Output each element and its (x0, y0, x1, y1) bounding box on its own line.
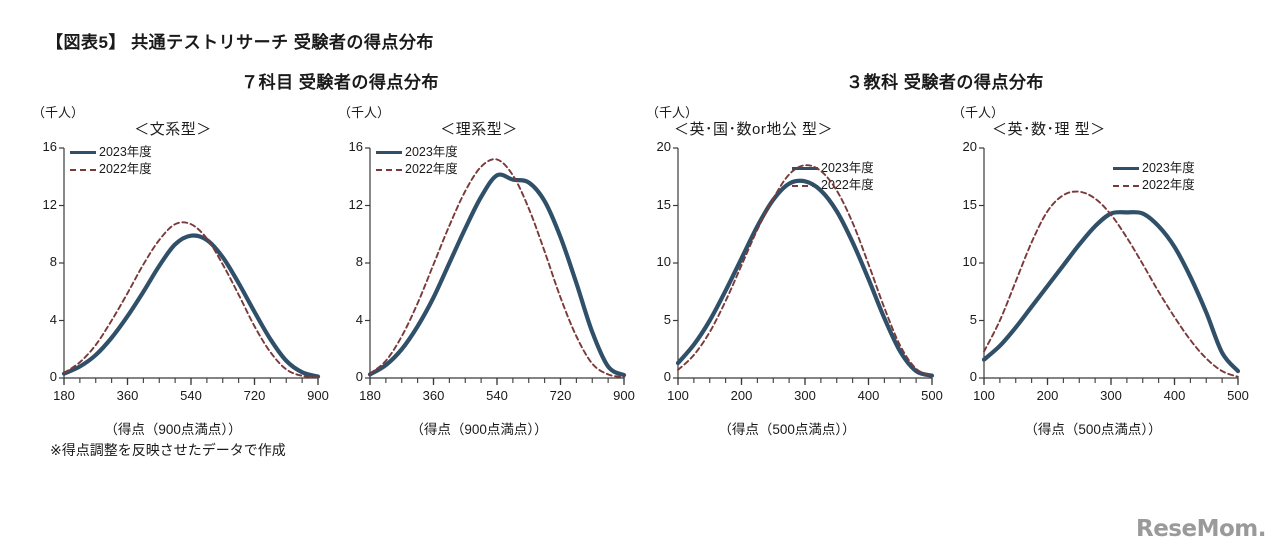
x-tick-label: 500 (1216, 388, 1260, 403)
plot-area: 05101520100200300400500 (938, 140, 1248, 400)
x-tick-label: 360 (106, 388, 150, 403)
section-title-7subjects: ７科目 受験者の得点分布 (130, 68, 550, 93)
series-line-2022年度 (370, 159, 624, 377)
chart-panel-rikei: （千人） ＜理系型＞ 2023年度 2022年度 048121618036054… (324, 100, 634, 440)
y-tick-label: 10 (951, 254, 977, 269)
chart-title: ＜理系型＞ (324, 118, 634, 139)
series-line-2023年度 (984, 212, 1238, 371)
y-tick-label: 4 (31, 312, 57, 327)
y-tick-label: 12 (337, 197, 363, 212)
x-tick-label: 200 (1026, 388, 1070, 403)
x-axis-caption: （得点（900点満点）） (324, 418, 634, 438)
x-tick-label: 200 (720, 388, 764, 403)
y-tick-label: 0 (645, 369, 671, 384)
y-tick-label: 0 (337, 369, 363, 384)
series-line-2023年度 (64, 236, 318, 377)
y-tick-label: 5 (951, 312, 977, 327)
chart-svg (18, 140, 328, 400)
chart-title: ＜英･国･数or地公 型＞ (674, 118, 833, 139)
x-tick-label: 720 (233, 388, 277, 403)
section-title-3subjects: ３教科 受験者の得点分布 (735, 68, 1155, 93)
y-tick-label: 16 (337, 139, 363, 154)
x-tick-label: 540 (169, 388, 213, 403)
plot-area: 05101520100200300400500 (632, 140, 942, 400)
y-tick-label: 8 (31, 254, 57, 269)
series-line-2023年度 (678, 181, 932, 376)
x-axis-caption: （得点（500点満点）） (938, 418, 1248, 438)
x-axis-caption: （得点（900点満点）） (18, 418, 328, 438)
y-tick-label: 16 (31, 139, 57, 154)
y-tick-label: 10 (645, 254, 671, 269)
x-tick-label: 300 (783, 388, 827, 403)
chart-svg (938, 140, 1248, 400)
chart-title: ＜英･数･理 型＞ (992, 118, 1106, 139)
series-line-2023年度 (370, 175, 624, 376)
x-tick-label: 400 (847, 388, 891, 403)
y-tick-label: 0 (31, 369, 57, 384)
x-tick-label: 360 (412, 388, 456, 403)
y-tick-label: 5 (645, 312, 671, 327)
x-axis-caption: （得点（500点満点）） (632, 418, 942, 438)
series-line-2022年度 (984, 192, 1238, 377)
footnote: ※得点調整を反映させたデータで作成 (50, 440, 286, 460)
plot-area: 0481216180360540720900 (324, 140, 634, 400)
y-tick-label: 0 (951, 369, 977, 384)
chart-panel-bunkei: （千人） ＜文系型＞ 2023年度 2022年度 048121618036054… (18, 100, 328, 440)
x-tick-label: 100 (656, 388, 700, 403)
y-tick-label: 12 (31, 197, 57, 212)
y-tick-label: 8 (337, 254, 363, 269)
x-tick-label: 300 (1089, 388, 1133, 403)
x-tick-label: 720 (539, 388, 583, 403)
x-tick-label: 100 (962, 388, 1006, 403)
chart-title: ＜文系型＞ (18, 118, 328, 139)
y-tick-label: 20 (951, 139, 977, 154)
x-tick-label: 180 (42, 388, 86, 403)
chart-panel-eikokusu: （千人） ＜英･国･数or地公 型＞ 2023年度 2022年度 0510152… (632, 100, 942, 440)
page-title: 【図表5】 共通テストリサーチ 受験者の得点分布 (46, 28, 434, 53)
plot-area: 0481216180360540720900 (18, 140, 328, 400)
chart-svg (324, 140, 634, 400)
chart-panel-eisuuri: （千人） ＜英･数･理 型＞ 2023年度 2022年度 05101520100… (938, 100, 1248, 440)
y-tick-label: 4 (337, 312, 363, 327)
x-tick-label: 540 (475, 388, 519, 403)
x-tick-label: 400 (1153, 388, 1197, 403)
y-tick-label: 20 (645, 139, 671, 154)
chart-svg (632, 140, 942, 400)
x-tick-label: 180 (348, 388, 392, 403)
y-tick-label: 15 (951, 197, 977, 212)
y-tick-label: 15 (645, 197, 671, 212)
watermark-resemom: ReseMom. (1136, 516, 1266, 542)
